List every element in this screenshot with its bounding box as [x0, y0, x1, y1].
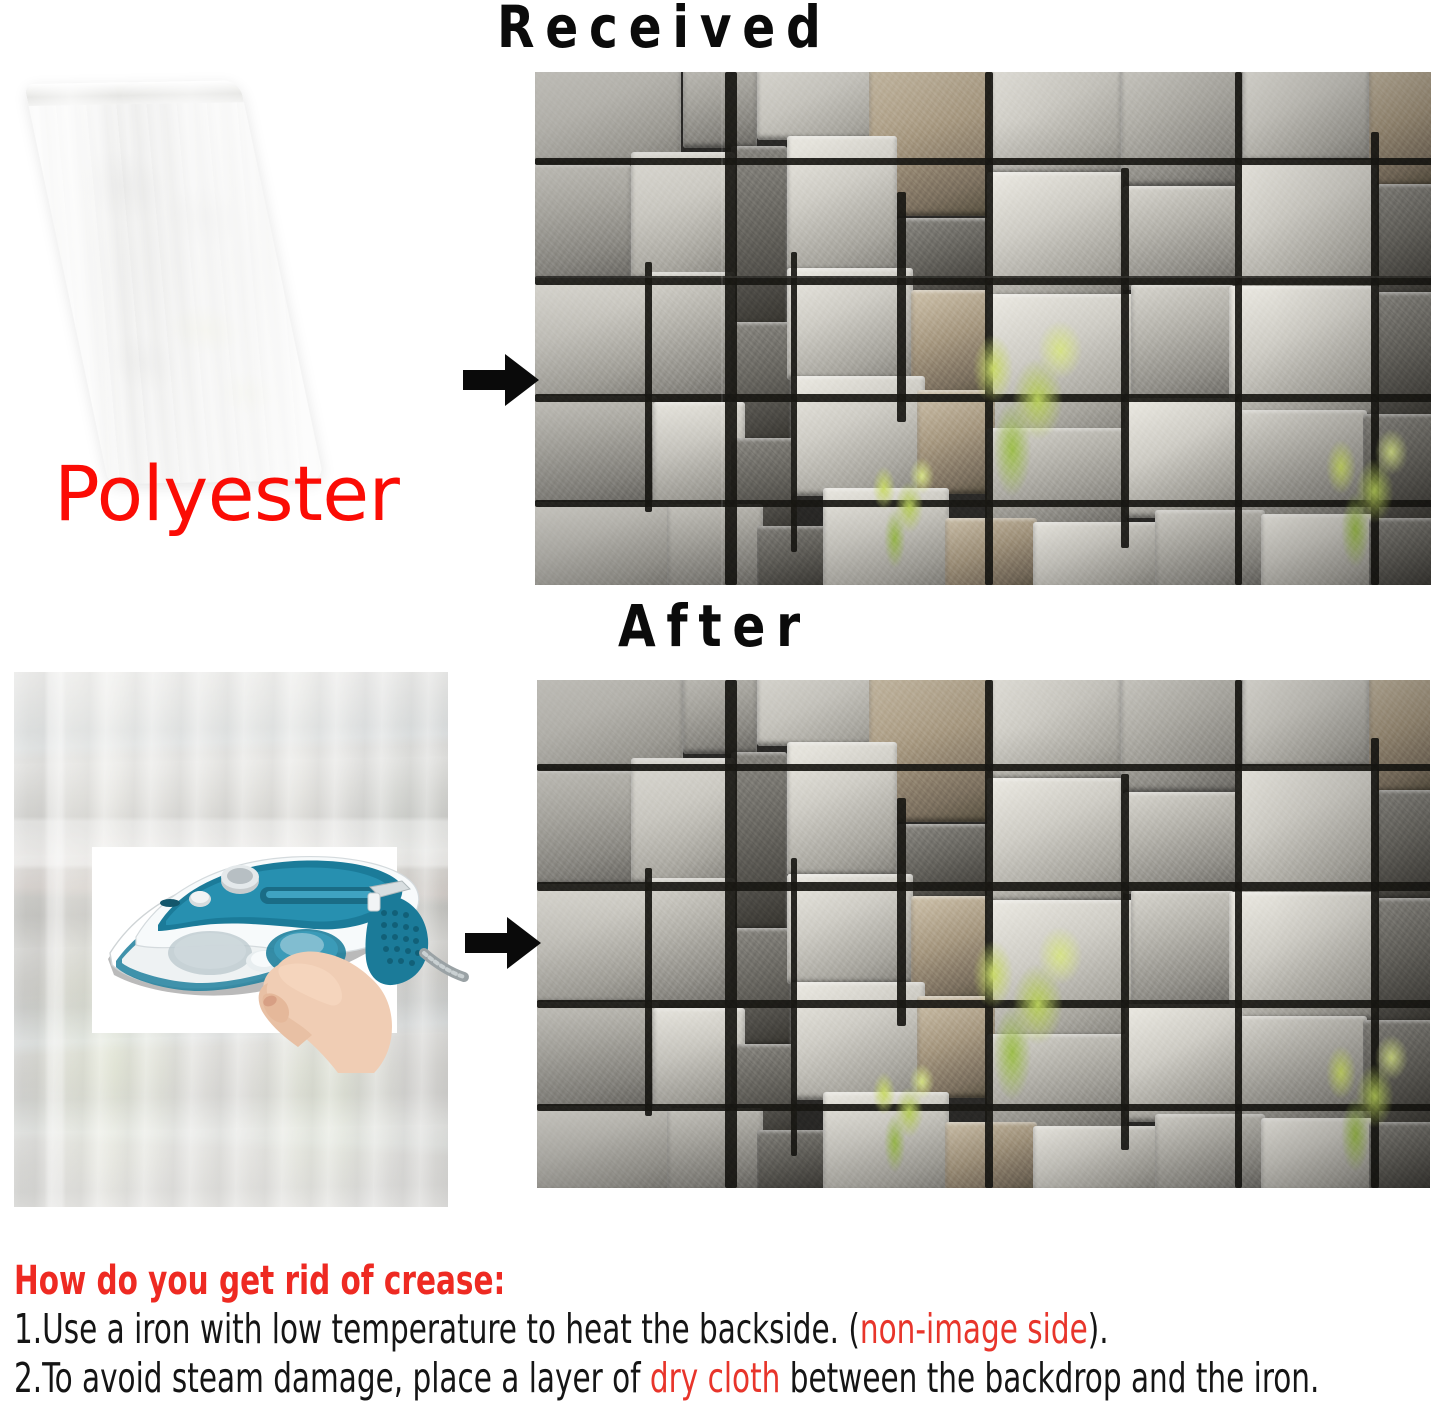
- after-title: After: [618, 597, 811, 655]
- polyester-label: Polyester: [54, 455, 399, 533]
- rock-vignette: [537, 680, 1430, 1188]
- instruction-line-2-prefix: 2.To avoid steam damage, place a layer o…: [14, 1354, 650, 1402]
- after-backdrop-photo: [537, 680, 1430, 1188]
- fabric-roll-sheen: [24, 80, 324, 484]
- instruction-line-2-highlight: dry cloth: [650, 1354, 780, 1402]
- instruction-line-1-prefix: 1.Use a iron with low temperature to hea…: [14, 1305, 860, 1353]
- rock-vignette: [535, 72, 1431, 585]
- received-backdrop-photo: [535, 72, 1431, 585]
- iron-demo-card: [92, 847, 397, 1033]
- instruction-line-1-highlight: non-image side: [860, 1305, 1088, 1353]
- instructions-heading: How do you get rid of crease:: [14, 1258, 1170, 1304]
- instruction-line-1-suffix: ).: [1088, 1305, 1109, 1353]
- instruction-line-2: 2.To avoid steam damage, place a layer o…: [14, 1355, 1142, 1402]
- instruction-line-2-suffix: between the backdrop and the iron.: [780, 1354, 1319, 1402]
- iron-and-hand-image: [92, 841, 437, 1071]
- instruction-line-1: 1.Use a iron with low temperature to hea…: [14, 1306, 1142, 1353]
- instructions-block: How do you get rid of crease: 1.Use a ir…: [14, 1258, 1424, 1402]
- arrow-right-icon: [461, 349, 541, 411]
- received-title: Received: [497, 0, 832, 56]
- arrow-right-icon: [463, 912, 543, 974]
- polyester-fabric-roll-image: [24, 80, 324, 484]
